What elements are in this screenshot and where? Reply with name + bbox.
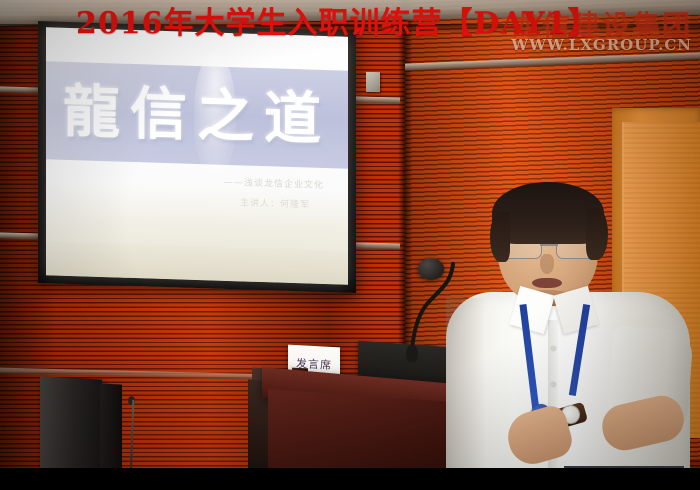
hair-side-right (586, 208, 608, 260)
bottom-letterbox-bar (0, 468, 700, 490)
mouth (532, 278, 562, 288)
hair-side-left (490, 212, 510, 262)
projection-screen: 龍信之道 ——浅谈龙信企业文化 主讲人：何隆军 (46, 27, 348, 284)
slide-title: 龍信之道 (46, 65, 348, 166)
pa-speaker (40, 376, 102, 474)
headline-caption: 2016年大学生入职训练营【DAY1】 (0, 6, 700, 42)
pa-speaker-side (100, 383, 122, 476)
speaker-person (452, 178, 684, 480)
shirt-button (551, 346, 556, 351)
shirt-button (551, 382, 556, 387)
shirt-shadow (446, 298, 486, 482)
slide-presenter: 主讲人：何隆军 (240, 195, 310, 210)
slide-subtitle: ——浅谈龙信企业文化 (224, 175, 324, 191)
wall-plate-icon (366, 72, 380, 92)
microphone-head-icon (418, 258, 444, 280)
glasses-bridge (540, 244, 558, 246)
presentation-photo: 龍信之道 ——浅谈龙信企业文化 主讲人：何隆军 发言席 (0, 0, 700, 490)
